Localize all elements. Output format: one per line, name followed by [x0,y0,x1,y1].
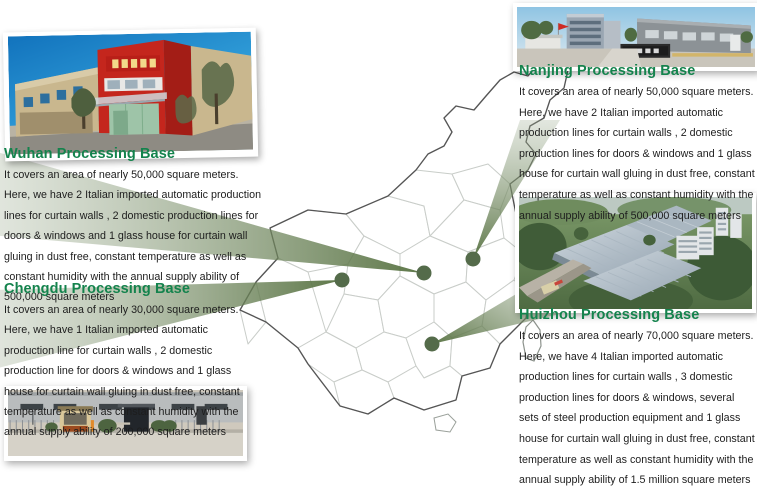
map-marker-huizhou[interactable] [425,337,440,352]
huizhou-text-block: Huizhou Processing Base It covers an are… [519,307,755,491]
nanjing-body: It covers an area of nearly 50,000 squar… [519,82,755,226]
chengdu-heading: Chengdu Processing Base [4,281,256,298]
wuhan-photo[interactable] [3,28,258,162]
nanjing-heading: Nanjing Processing Base [519,63,755,80]
huizhou-body: It covers an area of nearly 70,000 squar… [519,326,755,491]
nanjing-photo[interactable] [513,3,757,71]
wuhan-heading: Wuhan Processing Base [4,146,262,163]
chengdu-text-block: Chengdu Processing Base It covers an are… [4,281,256,443]
nanjing-factory-image [517,7,755,67]
infographic-stage: Wuhan Processing Base It covers an area … [0,0,757,457]
nanjing-text-block: Nanjing Processing Base It covers an are… [519,63,755,226]
map-marker-nanjing[interactable] [466,252,481,267]
wuhan-factory-image [8,32,253,155]
huizhou-heading: Huizhou Processing Base [519,307,755,324]
map-marker-chengdu[interactable] [335,273,350,288]
chengdu-body: It covers an area of nearly 30,000 squar… [4,300,256,443]
map-marker-wuhan[interactable] [417,266,432,281]
